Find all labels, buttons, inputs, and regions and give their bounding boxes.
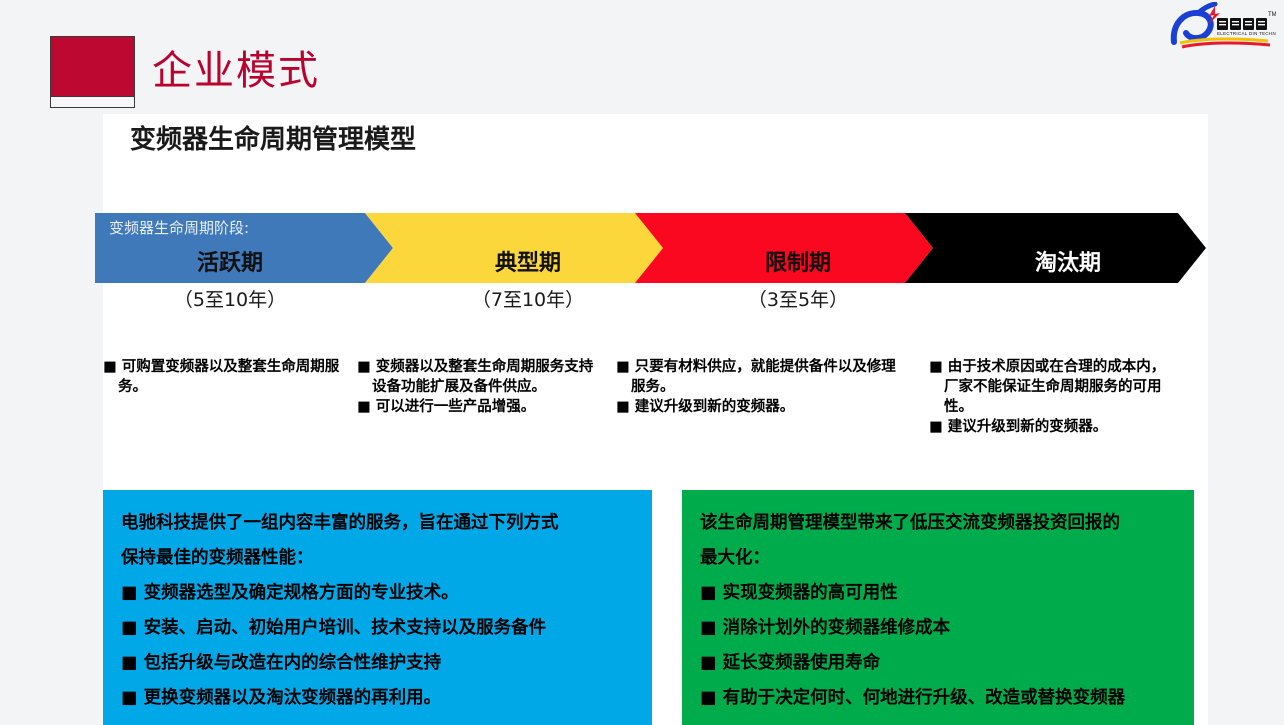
callout-benefits-green: 该生命周期管理模型带来了低压交流变频器投资回报的 最大化： ■ 实现变频器的高可… (682, 490, 1194, 725)
phase-notes-active: ■ 可购置变频器以及整套生命周期服务。 (103, 357, 349, 397)
note-bullet: ■ 可购置变频器以及整套生命周期服务。 (103, 357, 349, 397)
note-bullet: ■ 只要有材料供应，就能提供备件以及修理服务。 (616, 357, 901, 397)
phase-name-obsolete: 淘汰期 (933, 249, 1203, 279)
logo-graphic: TM ELECTRICAL DIN TECHNOLOGY (1168, 2, 1276, 52)
phase-notes-typical: ■ 变频器以及整套生命周期服务支持设备功能扩展及备件供应。 ■ 可以进行一些产品… (357, 357, 605, 417)
callout-services-blue: 电驰科技提供了一组内容丰富的服务，旨在通过下列方式 保持最佳的变频器性能： ■ … (103, 490, 652, 725)
phase-name-limited: 限制期 (663, 249, 933, 279)
callout-intro-line: 电驰科技提供了一组内容丰富的服务，旨在通过下列方式 (121, 506, 634, 541)
phase-duration-typical: （7至10年） (393, 286, 663, 314)
phase-chevron-obsolete[interactable]: 淘汰期 (905, 213, 1206, 283)
phase-chevron-typical[interactable]: 典型期 (365, 213, 663, 283)
phase-notes-obsolete: ■ 由于技术原因或在合理的成本内，厂家不能保证生命周期服务的可用性。 ■ 建议升… (929, 357, 1179, 437)
callout-intro-line: 最大化： (700, 541, 1176, 576)
model-title: 变频器生命周期管理模型 (130, 121, 416, 159)
note-bullet: ■ 建议升级到新的变频器。 (616, 397, 901, 417)
callout-bullet: ■ 消除计划外的变频器维修成本 (700, 611, 1176, 646)
header-red-swatch (50, 36, 135, 108)
phase-duration-limited: （3至5年） (663, 286, 933, 314)
phase-chevron-active[interactable]: 变频器生命周期阶段: 活跃期 (95, 213, 393, 283)
phase-notes-limited: ■ 只要有材料供应，就能提供备件以及修理服务。 ■ 建议升级到新的变频器。 (616, 357, 901, 417)
page-title: 企业模式 (152, 44, 320, 98)
callout-bullet: ■ 更换变频器以及淘汰变频器的再利用。 (121, 681, 634, 716)
phase-bar-legend-label: 变频器生命周期阶段: (109, 217, 249, 239)
callout-bullet: ■ 实现变频器的高可用性 (700, 576, 1176, 611)
note-bullet: ■ 建议升级到新的变频器。 (929, 417, 1179, 437)
callout-bullet: ■ 变频器选型及确定规格方面的专业技术。 (121, 576, 634, 611)
lifecycle-phase-bar: 变频器生命周期阶段: 活跃期 典型期 限制期 淘汰期 (95, 213, 1206, 283)
phase-duration-row: （5至10年） （7至10年） （3至5年） (95, 286, 1206, 316)
phase-chevron-limited[interactable]: 限制期 (635, 213, 933, 283)
svg-text:ELECTRICAL DIN TECHNOLOGY: ELECTRICAL DIN TECHNOLOGY (1217, 31, 1276, 36)
callout-bullet: ■ 包括升级与改造在内的综合性维护支持 (121, 646, 634, 681)
phase-duration-active: （5至10年） (95, 286, 365, 314)
phase-name-active: 活跃期 (95, 249, 365, 279)
callout-bullet: ■ 有助于决定何时、何地进行升级、改造或替换变频器 (700, 681, 1176, 716)
slide-content-card: 变频器生命周期管理模型 变频器生命周期阶段: 活跃期 典型期 限制期 淘汰期 （… (103, 114, 1208, 725)
svg-text:TM: TM (1268, 12, 1276, 18)
slide-header: 企业模式 TM ELECTRICAL DIN (0, 0, 1284, 114)
callout-row: 电驰科技提供了一组内容丰富的服务，旨在通过下列方式 保持最佳的变频器性能： ■ … (95, 490, 1206, 725)
callout-bullet: ■ 延长变频器使用寿命 (700, 646, 1176, 681)
callout-intro-line: 保持最佳的变频器性能： (121, 541, 634, 576)
callout-bullet: ■ 安装、启动、初始用户培训、技术支持以及服务备件 (121, 611, 634, 646)
dianchi-technology-logo: TM ELECTRICAL DIN TECHNOLOGY (1168, 2, 1276, 52)
note-bullet: ■ 由于技术原因或在合理的成本内，厂家不能保证生命周期服务的可用性。 (929, 357, 1179, 417)
phase-notes-row: ■ 可购置变频器以及整套生命周期服务。 ■ 变频器以及整套生命周期服务支持设备功… (95, 357, 1206, 477)
note-bullet: ■ 可以进行一些产品增强。 (357, 397, 605, 417)
note-bullet: ■ 变频器以及整套生命周期服务支持设备功能扩展及备件供应。 (357, 357, 605, 397)
callout-intro-line: 该生命周期管理模型带来了低压交流变频器投资回报的 (700, 506, 1176, 541)
phase-name-typical: 典型期 (393, 249, 663, 279)
